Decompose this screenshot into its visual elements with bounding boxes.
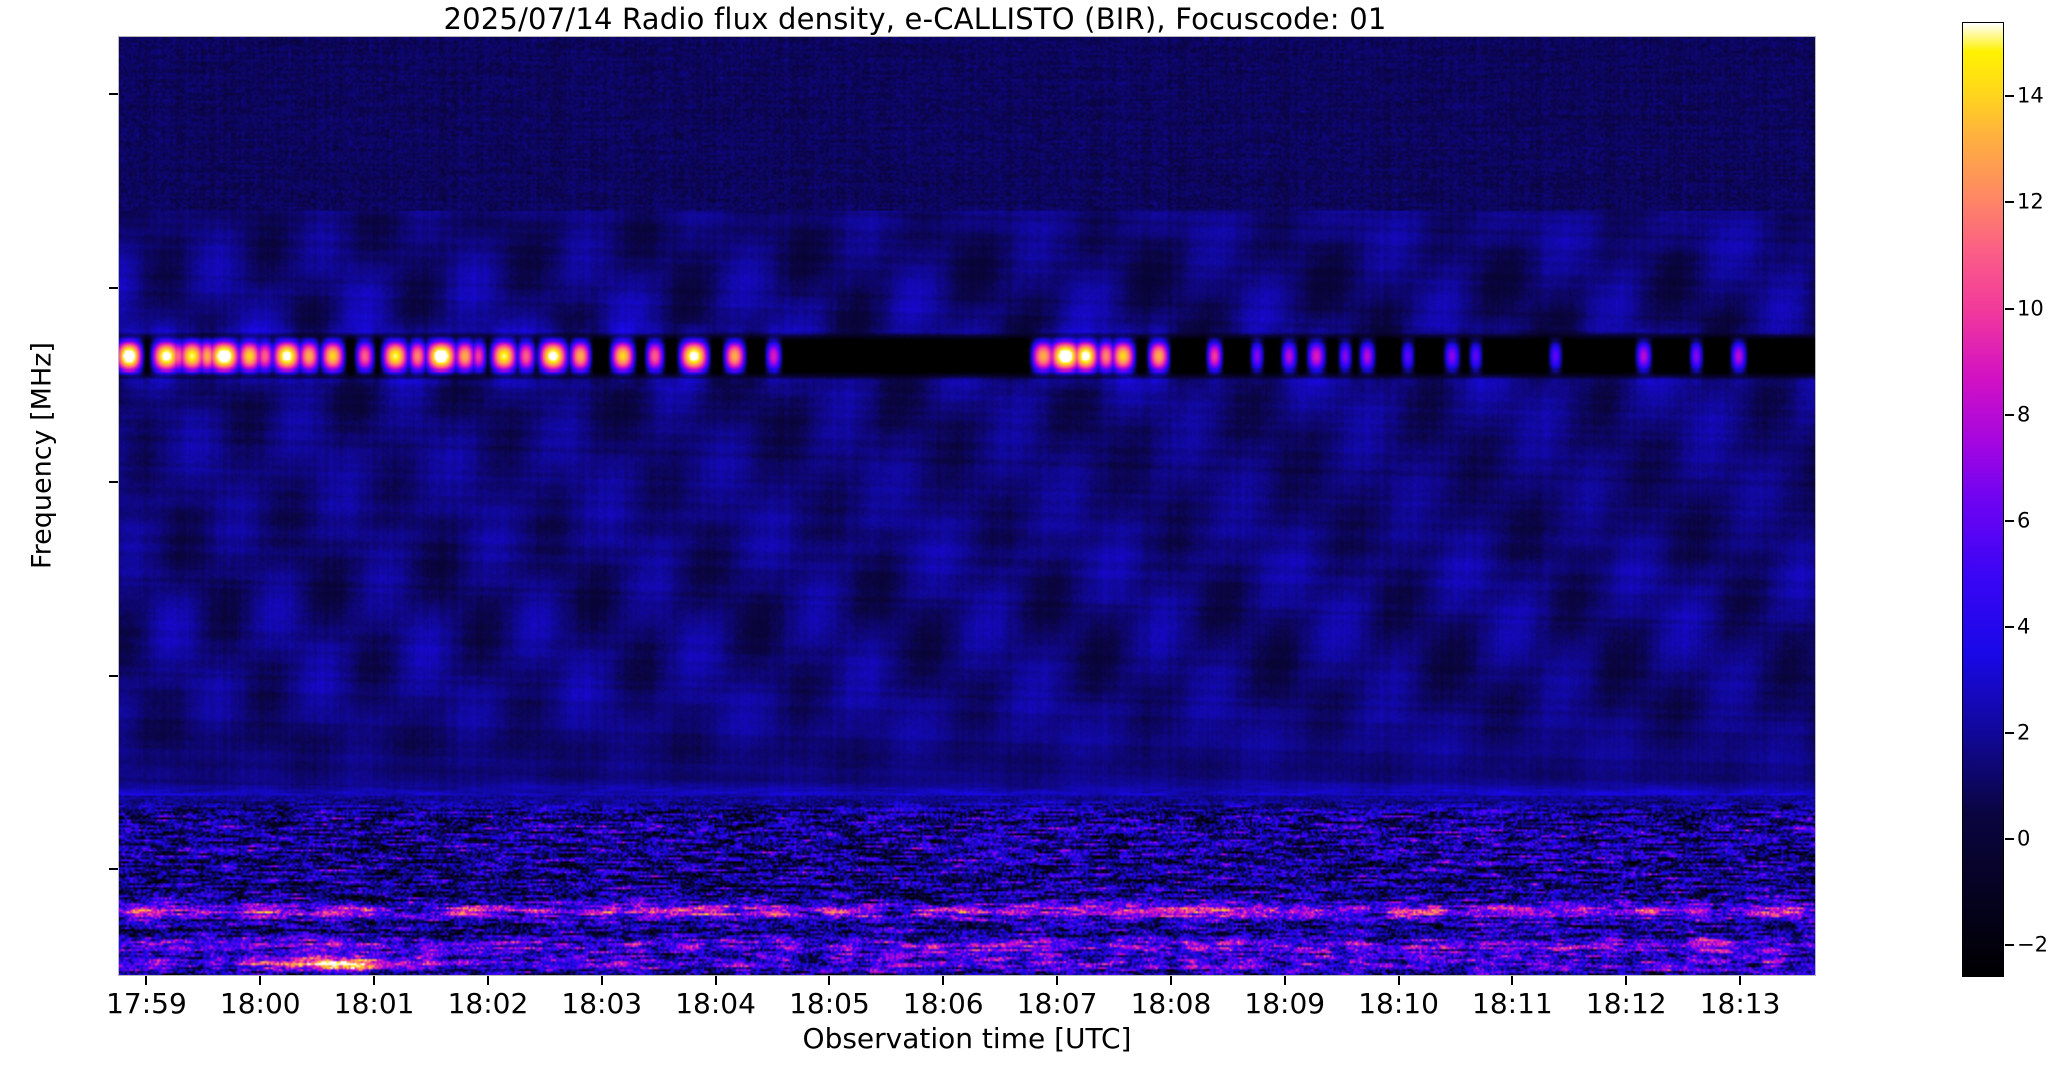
colorbar-tick-mark <box>2005 838 2014 840</box>
colorbar-tick-mark <box>2005 944 2014 946</box>
x-tick-mark <box>259 976 261 985</box>
x-tick-mark <box>715 976 717 985</box>
x-tick-mark <box>1511 976 1513 985</box>
colorbar-tick-mark <box>2005 414 2014 416</box>
x-tick-mark <box>1284 976 1286 985</box>
colorbar-tick-mark <box>2005 201 2014 203</box>
x-tick-mark <box>942 976 944 985</box>
x-tick-mark <box>601 976 603 985</box>
x-tick-mark <box>1398 976 1400 985</box>
colorbar-tick-mark <box>2005 308 2014 310</box>
x-tick-mark <box>1056 976 1058 985</box>
colorbar-tick-label: 0 <box>2017 829 2065 850</box>
colorbar-tick-mark <box>2005 95 2014 97</box>
figure-root: 2025/07/14 Radio flux density, e-CALLIST… <box>0 0 2066 1067</box>
colorbar-tick-label: 4 <box>2017 616 2065 637</box>
colorbar-tick-label: −2 <box>2017 935 2065 956</box>
colorbar-gradient <box>1963 23 2003 976</box>
colorbar-tick-label: 10 <box>2017 298 2065 319</box>
colorbar-tick-label: 12 <box>2017 192 2065 213</box>
colorbar-tick-label: 2 <box>2017 722 2065 743</box>
x-axis-label: Observation time [UTC] <box>118 1022 1816 1055</box>
colorbar-tick-mark <box>2005 626 2014 628</box>
x-tick-mark <box>145 976 147 985</box>
colorbar-tick-mark <box>2005 520 2014 522</box>
x-tick-mark <box>1170 976 1172 985</box>
colorbar-tick-label: 6 <box>2017 510 2065 531</box>
x-axis: 17:5918:0018:0118:0218:0318:0418:0518:06… <box>0 0 2066 1067</box>
colorbar-tick-label: 8 <box>2017 404 2065 425</box>
x-tick-mark <box>1625 976 1627 985</box>
x-tick-mark <box>373 976 375 985</box>
colorbar-tick-mark <box>2005 732 2014 734</box>
x-tick-mark <box>828 976 830 985</box>
x-tick-label: 18:13 <box>1660 990 1820 1018</box>
x-tick-mark <box>1739 976 1741 985</box>
colorbar <box>1962 22 2004 977</box>
x-tick-mark <box>487 976 489 985</box>
colorbar-tick-label: 14 <box>2017 86 2065 107</box>
